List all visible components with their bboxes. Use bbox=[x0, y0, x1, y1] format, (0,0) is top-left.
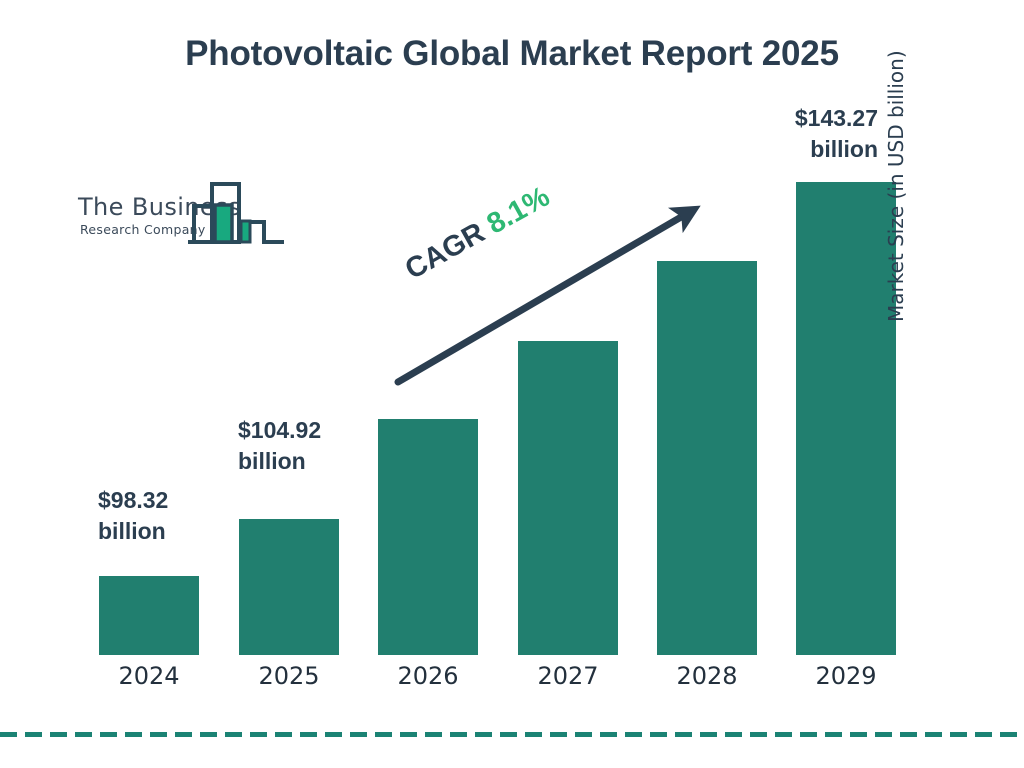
footer-divider bbox=[0, 732, 1024, 737]
bar-2029 bbox=[796, 182, 896, 655]
bar-2025 bbox=[239, 519, 339, 655]
x-axis-tick-2024: 2024 bbox=[99, 662, 199, 690]
value-label-2024: $98.32 billion bbox=[98, 485, 168, 546]
x-axis-tick-2026: 2026 bbox=[378, 662, 478, 690]
x-axis-tick-2027: 2027 bbox=[518, 662, 618, 690]
x-axis-tick-2028: 2028 bbox=[657, 662, 757, 690]
chart-canvas: Photovoltaic Global Market Report 2025 T… bbox=[0, 0, 1024, 768]
value-label-2025: $104.92 billion bbox=[238, 415, 321, 476]
value-label-2029: $143.27 billion bbox=[756, 103, 878, 164]
x-axis-tick-2025: 2025 bbox=[239, 662, 339, 690]
x-axis-tick-2029: 2029 bbox=[796, 662, 896, 690]
y-axis-title: Market Size (in USD billion) bbox=[884, 0, 908, 322]
bar-2024 bbox=[99, 576, 199, 655]
bar-2026 bbox=[378, 419, 478, 655]
cagr-growth-arrow-icon bbox=[380, 190, 710, 390]
